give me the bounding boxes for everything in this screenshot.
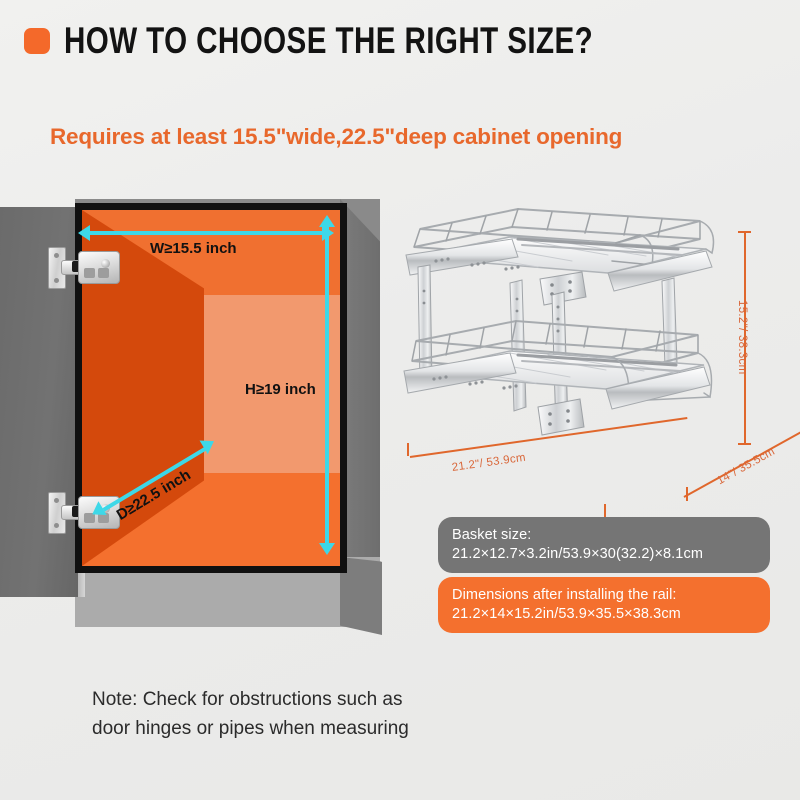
installed-dimensions-callout: Dimensions after installing the rail: 21… xyxy=(438,577,770,633)
rack-length-cap-left xyxy=(407,443,409,456)
orange-square-bullet-icon xyxy=(24,28,50,54)
callout-connector-line xyxy=(604,504,606,518)
header: HOW TO CHOOSE THE RIGHT SIZE? xyxy=(24,22,725,59)
hinge-screw-icon xyxy=(101,259,110,268)
requirement-subtitle: Requires at least 15.5"wide,22.5"deep ca… xyxy=(50,124,622,150)
page-title: HOW TO CHOOSE THE RIGHT SIZE? xyxy=(64,22,593,59)
basket-size-callout: Basket size: 21.2×12.7×3.2in/53.9×30(32.… xyxy=(438,517,770,573)
note-line-1: Note: Check for obstructions such as xyxy=(92,685,512,714)
basket-size-title: Basket size: xyxy=(452,526,756,545)
height-arrow-up-icon xyxy=(319,215,335,227)
installed-dimensions-title: Dimensions after installing the rail: xyxy=(452,586,756,605)
rack-height-cap-top xyxy=(738,231,751,233)
width-label: W≥15.5 inch xyxy=(150,240,237,257)
width-arrow-left-icon xyxy=(78,225,90,241)
basket-size-value: 21.2×12.7×3.2in/53.9×30(32.2)×8.1cm xyxy=(452,545,756,564)
rack-height-label: 15.2"/ 38.3cm xyxy=(736,300,748,374)
product-rack-illustration xyxy=(400,195,760,485)
height-dimension-line xyxy=(325,227,329,545)
cabinet-diagram: W≥15.5 inch H≥19 inch xyxy=(0,185,420,655)
height-label: H≥19 inch xyxy=(245,381,316,398)
hinge-cup xyxy=(78,251,120,284)
cabinet-hinge-top xyxy=(48,245,120,289)
height-arrow-down-icon xyxy=(319,543,335,555)
measuring-note: Note: Check for obstructions such as doo… xyxy=(92,685,512,744)
rack-height-cap-bottom xyxy=(738,443,751,445)
width-dimension-line xyxy=(90,231,322,235)
note-line-2: door hinges or pipes when measuring xyxy=(92,714,512,743)
installed-dimensions-value: 21.2×14×15.2in/53.9×35.5×38.3cm xyxy=(452,605,756,624)
